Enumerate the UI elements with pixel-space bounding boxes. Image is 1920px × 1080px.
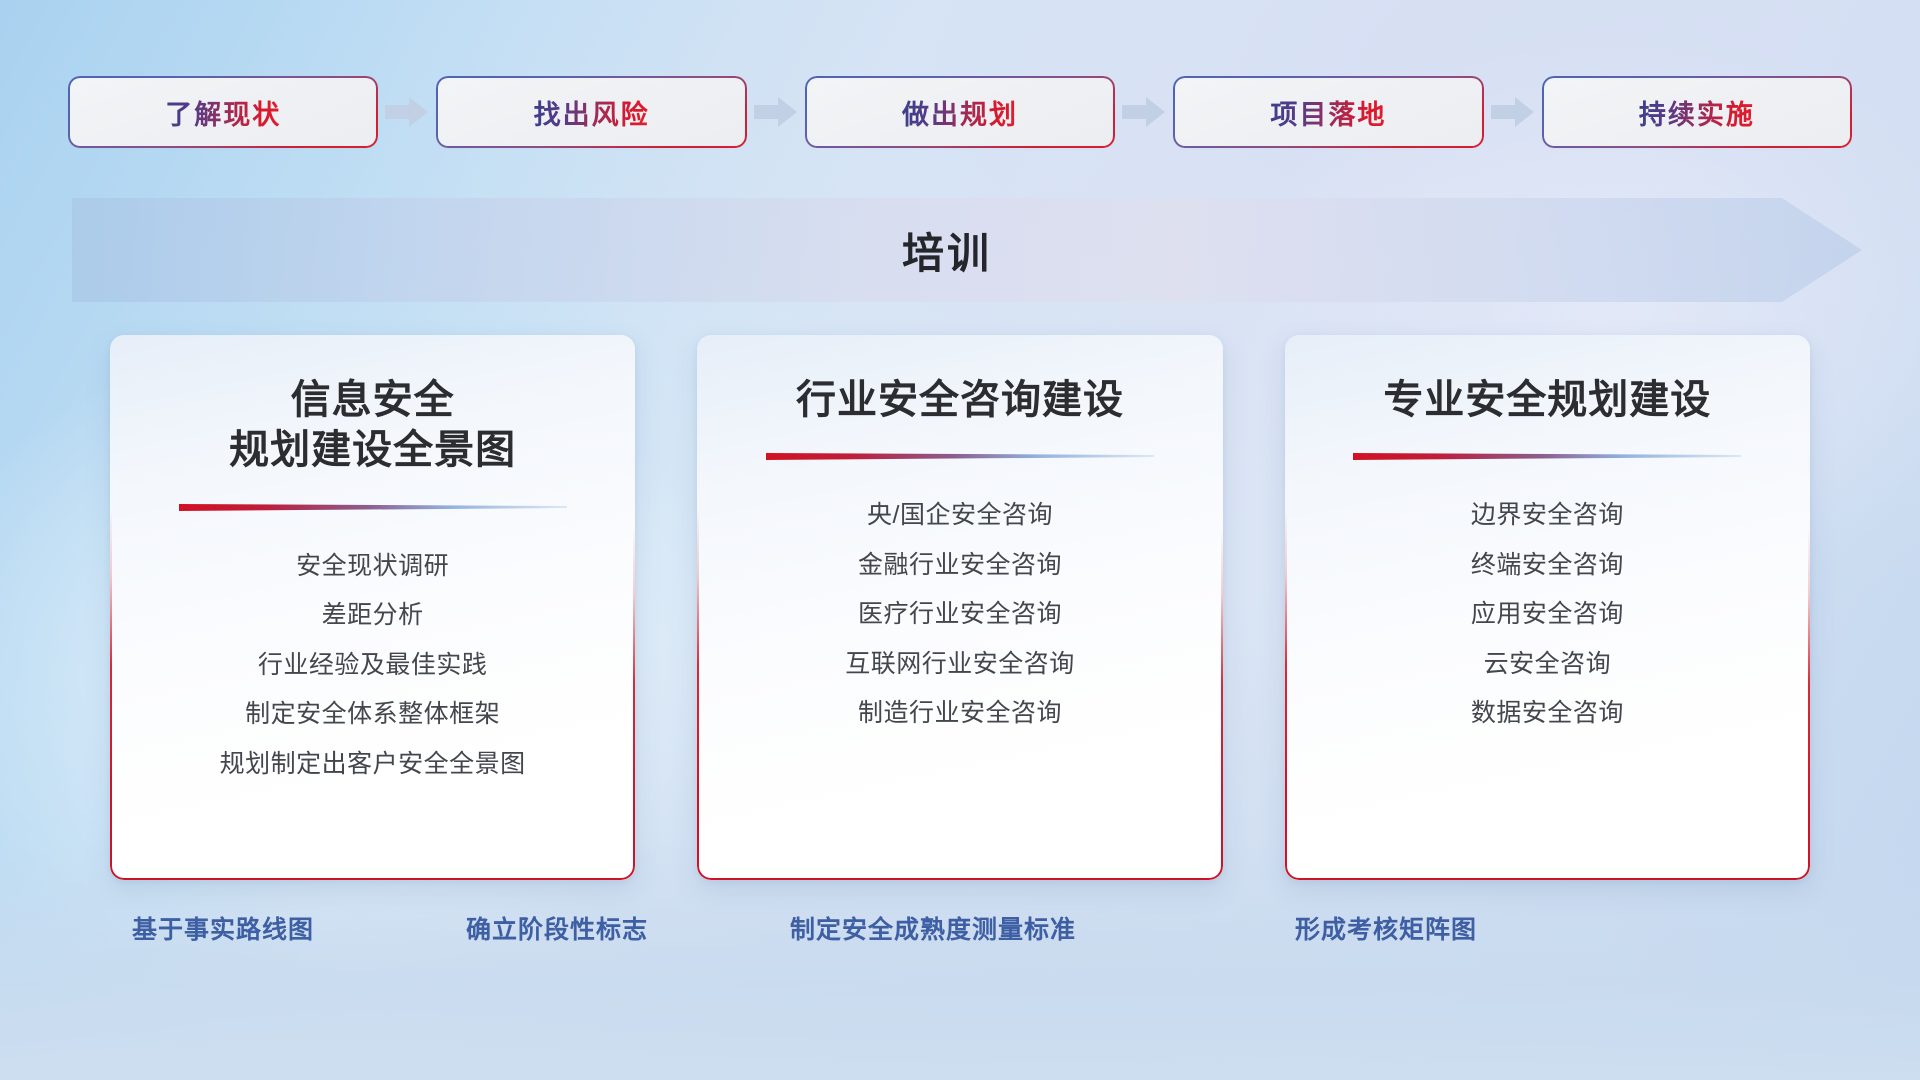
caption-1: 基于事实路线图 — [132, 910, 314, 946]
card-divider-icon — [1353, 451, 1741, 461]
caption-3: 制定安全成熟度测量标准 — [790, 910, 1076, 946]
list-item: 边界安全咨询 — [1311, 491, 1784, 541]
step-label: 了解现状 — [165, 93, 281, 132]
list-item: 规划制定出客户安全全景图 — [136, 740, 609, 790]
step-box-5[interactable]: 持续实施 — [1544, 78, 1850, 146]
list-item: 行业经验及最佳实践 — [136, 641, 609, 691]
step-label: 项目落地 — [1270, 93, 1386, 132]
list-item: 金融行业安全咨询 — [723, 541, 1196, 591]
list-item: 央/国企安全咨询 — [723, 491, 1196, 541]
caption-2: 确立阶段性标志 — [466, 910, 648, 946]
card-item-list: 边界安全咨询 终端安全咨询 应用安全咨询 云安全咨询 数据安全咨询 — [1311, 491, 1784, 739]
card-item-list: 安全现状调研 差距分析 行业经验及最佳实践 制定安全体系整体框架 规划制定出客户… — [136, 542, 609, 790]
list-item: 制定安全体系整体框架 — [136, 690, 609, 740]
step-label: 持续实施 — [1639, 93, 1755, 132]
list-item: 终端安全咨询 — [1311, 541, 1784, 591]
caption-row: 基于事实路线图 确立阶段性标志 制定安全成熟度测量标准 形成考核矩阵图 — [0, 910, 1920, 970]
banner-label: 培训 — [72, 198, 1862, 302]
step-label: 做出规划 — [902, 93, 1018, 132]
card-divider-icon — [766, 451, 1154, 461]
service-card-3[interactable]: 专业安全规划建设 边界安全咨询 — [1285, 335, 1810, 880]
service-card-row: 信息安全 规划建设全景图 安全现状调研 — [110, 335, 1810, 880]
card-divider-icon — [179, 502, 567, 512]
caption-4: 形成考核矩阵图 — [1295, 910, 1477, 946]
card-item-list: 央/国企安全咨询 金融行业安全咨询 医疗行业安全咨询 互联网行业安全咨询 制造行… — [723, 491, 1196, 739]
list-item: 安全现状调研 — [136, 542, 609, 592]
process-step-row: 了解现状 找出风险 做出规划 项目落地 持续实施 — [70, 78, 1850, 146]
training-banner: 培训 — [72, 198, 1862, 302]
step-label: 找出风险 — [534, 93, 650, 132]
arrow-right-icon — [1482, 92, 1544, 132]
list-item: 医疗行业安全咨询 — [723, 590, 1196, 640]
card-title: 信息安全 规划建设全景图 — [229, 375, 516, 476]
step-box-3[interactable]: 做出规划 — [807, 78, 1113, 146]
list-item: 制造行业安全咨询 — [723, 689, 1196, 739]
list-item: 应用安全咨询 — [1311, 590, 1784, 640]
card-title: 专业安全规划建设 — [1383, 375, 1711, 425]
list-item: 云安全咨询 — [1311, 640, 1784, 690]
step-box-2[interactable]: 找出风险 — [438, 78, 744, 146]
service-card-1[interactable]: 信息安全 规划建设全景图 安全现状调研 — [110, 335, 635, 880]
step-box-4[interactable]: 项目落地 — [1175, 78, 1481, 146]
arrow-right-icon — [745, 92, 807, 132]
list-item: 数据安全咨询 — [1311, 689, 1784, 739]
service-card-2[interactable]: 行业安全咨询建设 央/国企安全咨询 — [697, 335, 1222, 880]
arrow-right-icon — [376, 92, 438, 132]
arrow-right-icon — [1113, 92, 1175, 132]
card-title: 行业安全咨询建设 — [796, 375, 1124, 425]
list-item: 差距分析 — [136, 591, 609, 641]
list-item: 互联网行业安全咨询 — [723, 640, 1196, 690]
step-box-1[interactable]: 了解现状 — [70, 78, 376, 146]
